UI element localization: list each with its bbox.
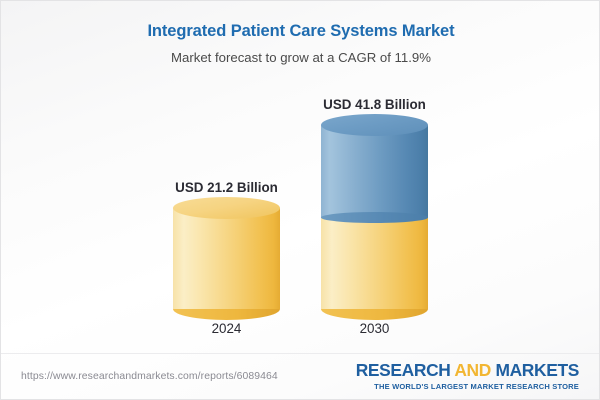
logo-wordmark: RESEARCH AND MARKETS <box>356 362 579 379</box>
logo-word-research: RESEARCH <box>356 360 451 380</box>
logo-word-and: AND <box>451 360 496 380</box>
report-url-link[interactable]: https://www.researchandmarkets.com/repor… <box>21 371 278 382</box>
research-and-markets-logo[interactable]: RESEARCH AND MARKETS THE WORLD'S LARGEST… <box>356 362 579 391</box>
cylinder-top-cap <box>173 197 280 219</box>
axis-label-2030: 2030 <box>301 321 448 336</box>
chart-plot-area: USD 21.2 Billion 2024 USD 41.8 Billion <box>1 1 600 353</box>
logo-word-markets: MARKETS <box>495 360 579 380</box>
axis-label-2024: 2024 <box>153 321 300 336</box>
bar-value-label-2024: USD 21.2 Billion <box>139 180 314 195</box>
cylinder-top-cap <box>321 114 428 136</box>
bar-value-label-2030: USD 41.8 Billion <box>287 97 462 112</box>
bar-segment-base-2024 <box>173 208 280 309</box>
cylinder-body <box>321 125 428 218</box>
bar-segment-base-2030 <box>321 218 428 309</box>
cylinder-bar-2024[interactable] <box>173 208 280 309</box>
bar-segment-growth-2030 <box>321 125 428 218</box>
cylinder-body <box>321 218 428 309</box>
segment-divider <box>321 212 428 223</box>
logo-tagline: THE WORLD'S LARGEST MARKET RESEARCH STOR… <box>356 383 579 391</box>
footer: https://www.researchandmarkets.com/repor… <box>1 353 599 399</box>
infographic-card: Integrated Patient Care Systems Market M… <box>0 0 600 400</box>
cylinder-body <box>173 208 280 309</box>
cylinder-bar-2030[interactable] <box>321 125 428 309</box>
